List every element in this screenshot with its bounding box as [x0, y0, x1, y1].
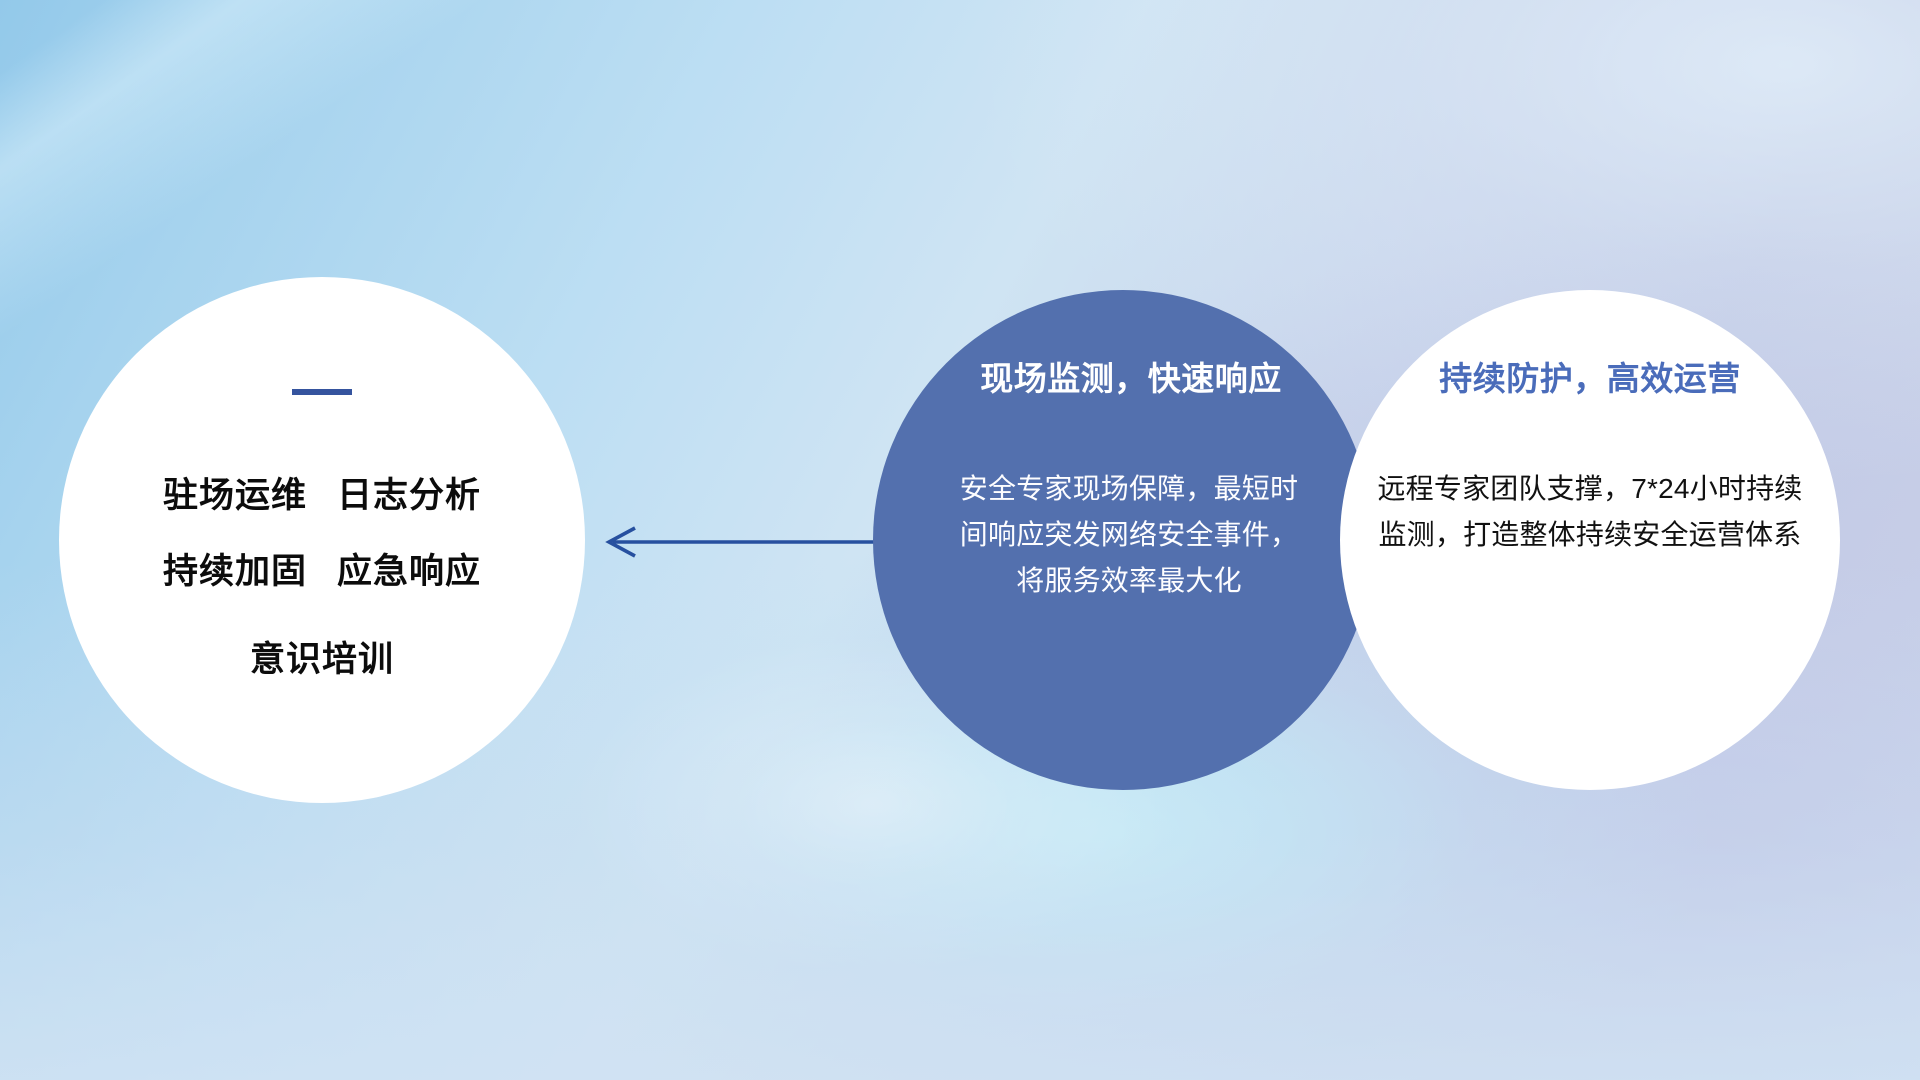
left-arrow-icon	[595, 520, 885, 564]
middle-card-title: 现场监测，快速响应	[980, 352, 1282, 400]
capability-label: 日志分析	[337, 476, 481, 515]
list-item: 驻场运维日志分析	[163, 458, 481, 534]
right-circle-content: 持续防护，高效运营 远程专家团队支撑，7*24小时持续监测，打造整体持续安全运营…	[1340, 290, 1840, 790]
middle-circle-content: 现场监测，快速响应 安全专家现场保障，最短时间响应突发网络安全事件，将服务效率最…	[873, 290, 1373, 790]
capability-label: 持续加固	[163, 552, 307, 591]
right-card-title: 持续防护，高效运营	[1439, 352, 1741, 400]
horizontal-dash-icon	[292, 389, 352, 395]
list-item: 持续加固应急响应	[163, 534, 481, 610]
capability-label: 驻场运维	[163, 476, 307, 515]
capability-circle-middle[interactable]: 现场监测，快速响应 安全专家现场保障，最短时间响应突发网络安全事件，将服务效率最…	[873, 290, 1373, 790]
left-circle-content: 驻场运维日志分析 持续加固应急响应 意识培训	[59, 277, 585, 803]
connector-arrow	[595, 520, 885, 564]
middle-card-body: 安全专家现场保障，最短时间响应突发网络安全事件，将服务效率最大化	[949, 466, 1309, 604]
capability-label: 意识培训	[250, 640, 394, 679]
capability-circle-right[interactable]: 持续防护，高效运营 远程专家团队支撑，7*24小时持续监测，打造整体持续安全运营…	[1340, 290, 1840, 790]
list-item: 意识培训	[250, 622, 394, 698]
capability-label: 应急响应	[337, 552, 481, 591]
capability-list: 驻场运维日志分析 持续加固应急响应 意识培训	[163, 458, 481, 698]
slide-canvas: 驻场运维日志分析 持续加固应急响应 意识培训 现场监测，快速响应 安全专家现场保…	[0, 0, 1920, 1080]
right-card-body: 远程专家团队支撑，7*24小时持续监测，打造整体持续安全运营体系	[1375, 466, 1805, 558]
capability-circle-left[interactable]: 驻场运维日志分析 持续加固应急响应 意识培训	[59, 277, 585, 803]
